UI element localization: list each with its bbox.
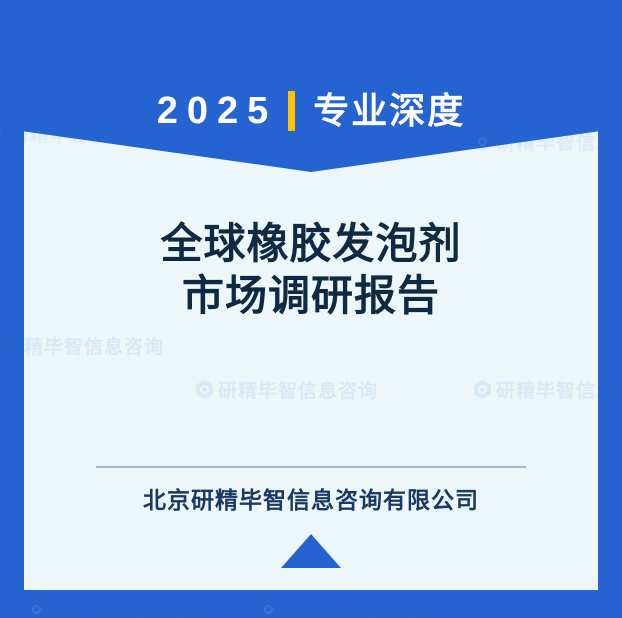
watermark-text: 研精毕智信息咨询 xyxy=(218,376,378,403)
watermark-text: 研精毕智信息咨询 xyxy=(4,332,164,359)
report-year: 2025 xyxy=(157,88,278,134)
top-banner xyxy=(0,0,622,172)
bottom-border-bar xyxy=(0,590,622,618)
header-row: 2025 专业深度 xyxy=(0,88,622,134)
title-line-1: 全球橡胶发泡剂 xyxy=(0,218,622,270)
company-name: 北京研精毕智信息咨询有限公司 xyxy=(0,481,622,515)
company-divider xyxy=(96,466,526,468)
watermark: 研精毕智信息咨询 xyxy=(0,332,164,359)
header-subtitle: 专业深度 xyxy=(313,88,465,134)
report-cover: 2025 专业深度 全球橡胶发泡剂 市场调研报告 北京研精毕智信息咨询有限公司 … xyxy=(0,0,622,618)
title-line-2: 市场调研报告 xyxy=(0,270,622,322)
page-title: 全球橡胶发泡剂 市场调研报告 xyxy=(0,218,622,322)
accent-divider-bar xyxy=(288,91,295,131)
triangle-decoration xyxy=(281,534,341,568)
logo-hex-icon xyxy=(474,380,491,399)
watermark: 研精毕智信息咨询 xyxy=(196,376,378,403)
logo-hex-icon xyxy=(196,380,213,399)
